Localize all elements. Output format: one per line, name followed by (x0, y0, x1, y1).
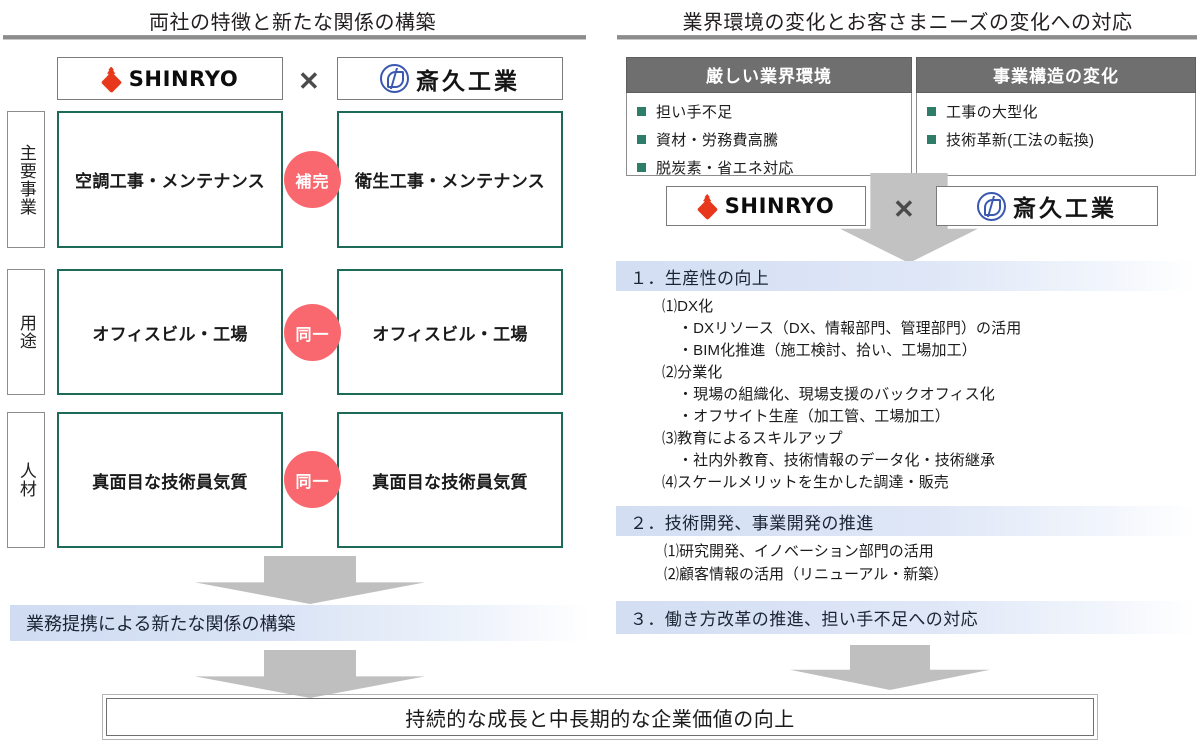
left-title-divider (3, 35, 586, 40)
detail-line: ⑵分業化 (616, 362, 1196, 384)
env-box-harsh-industry: 厳しい業界環境 担い手不足 資材・労務費高騰 脱炭素・省エネ対応 (626, 57, 912, 177)
right-times-symbol: ✕ (893, 194, 915, 225)
section-2-detail: ⑴研究開発、イノベーション部門の活用 ⑵顧客情報の活用（リニューアル・新築） (616, 541, 1196, 586)
env-list-item: 工事の大型化 (927, 101, 1195, 122)
env-box-header: 事業構造の変化 (916, 57, 1196, 93)
shinryo-wordmark: SHINRYO (129, 67, 239, 91)
env-item-label: 脱炭素・省エネ対応 (656, 157, 794, 178)
badge-main-business: 補完 (284, 151, 341, 208)
detail-line: ・オフサイト生産（加工管、工場加工） (616, 406, 1196, 428)
bullet-square-icon (927, 135, 936, 144)
arrow-down-right-to-banner (790, 645, 990, 690)
left-times-symbol: ✕ (298, 66, 320, 97)
detail-line: ・DXリソース（DX、情報部門、管理部門）の活用 (616, 318, 1196, 340)
row-label-human-resources: 人材 (7, 412, 45, 548)
env-list-item: 技術革新(工法の転換) (927, 129, 1195, 150)
env-list-item: 資材・労務費高騰 (637, 129, 911, 150)
right-panel-title: 業界環境の変化とお客さまニーズの変化への対応 (615, 6, 1200, 35)
row-label-text: 用途 (17, 314, 35, 350)
section-header-2: ２．技術開発、事業開発の推進 (616, 506, 1196, 536)
detail-line: ⑷スケールメリットを生かした調達・販売 (616, 472, 1196, 494)
row-label-main-business: 主要事業 (7, 111, 45, 248)
env-item-label: 工事の大型化 (946, 101, 1038, 122)
section-1-detail: ⑴DX化 ・DXリソース（DX、情報部門、管理部門）の活用 ・BIM化推進（施工… (616, 296, 1196, 494)
left-logo-plate-saikyu: 斎久工業 (337, 57, 563, 100)
section-header-1: １．生産性の向上 (616, 261, 1196, 291)
cell-shinryo-main-business: 空調工事・メンテナンス (57, 111, 283, 248)
row-label-usage: 用途 (7, 269, 45, 395)
saikyu-circle-mark (380, 64, 409, 93)
env-item-list: 工事の大型化 技術革新(工法の転換) (927, 101, 1195, 150)
cell-saikyu-main-business: 衛生工事・メンテナンス (337, 111, 563, 248)
bullet-square-icon (927, 107, 936, 116)
detail-line: ⑶教育によるスキルアップ (616, 428, 1196, 450)
left-result-bar: 業務提携による新たな関係の構築 (10, 605, 590, 641)
shinryo-diamond-mark (698, 194, 718, 218)
right-logo-plate-shinryo: SHINRYO (666, 186, 866, 226)
env-box-body: 担い手不足 資材・労務費高騰 脱炭素・省エネ対応 (626, 93, 912, 176)
slide-root: 両社の特徴と新たな関係の構築 業界環境の変化とお客さまニーズの変化への対応 SH… (0, 0, 1200, 744)
env-item-label: 資材・労務費高騰 (656, 129, 778, 150)
cell-saikyu-human-resources: 真面目な技術員気質 (337, 412, 563, 548)
detail-line: ⑴DX化 (616, 296, 1196, 318)
arrow-down-left-to-banner (195, 650, 425, 698)
detail-line: ・現場の組織化、現場支援のバックオフィス化 (616, 384, 1196, 406)
detail-line: ⑵顧客情報の活用（リニューアル・新築） (616, 564, 1196, 587)
detail-line: ・社内外教育、技術情報のデータ化・技術継承 (616, 450, 1196, 472)
env-list-item: 脱炭素・省エネ対応 (637, 157, 911, 178)
badge-human-resources: 同一 (284, 451, 341, 508)
env-item-label: 担い手不足 (656, 101, 733, 122)
bullet-square-icon (637, 135, 646, 144)
cell-shinryo-usage: オフィスビル・工場 (57, 269, 283, 395)
row-label-text: 主要事業 (17, 144, 35, 216)
left-logo-plate-shinryo: SHINRYO (57, 57, 283, 100)
cell-saikyu-usage: オフィスビル・工場 (337, 269, 563, 395)
saikyu-wordmark: 斎久工業 (1013, 189, 1117, 223)
arrow-down-to-result (195, 556, 425, 604)
cell-shinryo-human-resources: 真面目な技術員気質 (57, 412, 283, 548)
shinryo-diamond-mark (102, 67, 122, 91)
env-item-list: 担い手不足 資材・労務費高騰 脱炭素・省エネ対応 (637, 101, 911, 178)
detail-line: ⑴研究開発、イノベーション部門の活用 (616, 541, 1196, 564)
shinryo-wordmark: SHINRYO (725, 194, 835, 218)
saikyu-wordmark: 斎久工業 (416, 62, 520, 96)
env-list-item: 担い手不足 (637, 101, 911, 122)
right-title-divider (617, 35, 1197, 40)
bullet-square-icon (637, 163, 646, 172)
env-box-body: 工事の大型化 技術革新(工法の転換) (916, 93, 1196, 176)
bullet-square-icon (637, 107, 646, 116)
row-label-text: 人材 (17, 462, 35, 498)
env-item-label: 技術革新(工法の転換) (946, 129, 1094, 150)
section-header-3: ３．働き方改革の推進、担い手不足への対応 (616, 601, 1196, 634)
env-box-header: 厳しい業界環境 (626, 57, 912, 93)
bottom-banner: 持続的な成長と中長期的な企業価値の向上 (106, 698, 1094, 736)
saikyu-circle-mark (977, 192, 1006, 221)
left-panel-title: 両社の特徴と新たな関係の構築 (0, 6, 585, 35)
badge-usage: 同一 (284, 304, 341, 361)
env-box-business-structure: 事業構造の変化 工事の大型化 技術革新(工法の転換) (916, 57, 1196, 177)
right-logo-plate-saikyu: 斎久工業 (936, 186, 1158, 226)
detail-line: ・BIM化推進（施工検討、拾い、工場加工） (616, 340, 1196, 362)
